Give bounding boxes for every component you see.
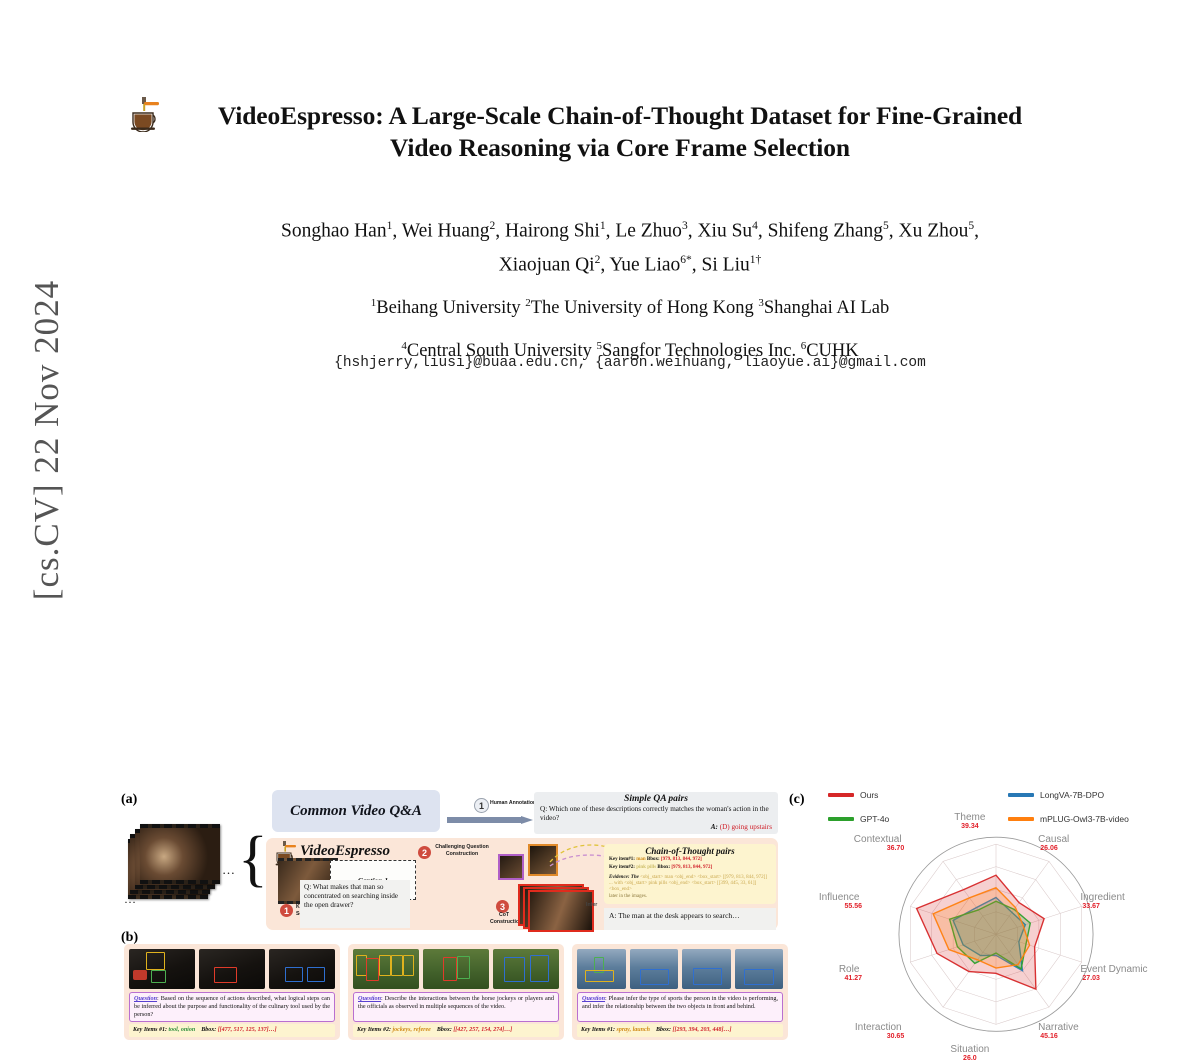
author-line-1: Songhao Han1, Wei Huang2, Hairong Shi1, … — [150, 212, 1110, 246]
key-items-value: jockeys, referee — [393, 1027, 431, 1033]
frame — [577, 949, 626, 989]
cot-key2-bbox: [979, 813, 844, 972] — [671, 865, 712, 870]
frame — [199, 949, 265, 989]
card-1-key-items: Key Items #1: tool, onion Bbox: [[477, 5… — [129, 1024, 335, 1037]
cot-key1-object: man — [636, 857, 645, 862]
bbox-label: Bbox: — [201, 1027, 216, 1033]
radar-label-causal: Causal — [1038, 834, 1069, 845]
video-frames-stack — [128, 824, 220, 890]
legend-label-gpt4o: GPT-4o — [860, 814, 889, 824]
simple-qa-box: Simple QA pairs Q: Which one of these de… — [534, 792, 778, 834]
infer-label: Infer — [586, 902, 597, 909]
cot-evidence-tail: later in the images. — [609, 894, 647, 900]
frames-ellipsis-bottom: … — [124, 892, 136, 907]
radar-value-causal: 26.06 — [1040, 845, 1058, 852]
author-line-2: Xiaojuan Qi2, Yue Liao6*, Si Liu1† — [150, 246, 1110, 280]
simple-qa-question: Q: Which one of these descriptions corre… — [540, 805, 772, 823]
cot-key1-bbox-label: Bbox: — [647, 857, 660, 862]
panel-label-c: (c) — [789, 792, 805, 808]
frame — [129, 949, 195, 989]
card-2-question: Question: Describe the interactions betw… — [353, 992, 559, 1022]
human-annotation-badge: 1 — [474, 798, 489, 813]
question-label: Question — [134, 995, 157, 1002]
example-card-2: Question: Describe the interactions betw… — [348, 944, 564, 1040]
frame — [630, 949, 679, 989]
simple-qa-title: Simple QA pairs — [534, 794, 778, 804]
key-items-label: Key Items #1: — [581, 1027, 615, 1033]
question-text: : Please infer the type of sports the pe… — [582, 995, 778, 1010]
radar-label-contextual: Contextual — [854, 834, 902, 845]
bbox-blue-1 — [285, 967, 303, 982]
radar-plot-area — [800, 832, 1192, 1040]
frame — [269, 949, 335, 989]
bbox-red — [443, 957, 457, 981]
cot-key1-label: Key item#1: — [609, 857, 635, 862]
arrow-to-simple-qa-icon — [447, 816, 533, 824]
evidence-frame-purple — [498, 854, 524, 880]
radar-label-ingredient: Ingredient — [1080, 892, 1124, 903]
radar-legend: Ours LongVA-7B-DPO GPT-4o mPLUG-Owl3-7B-… — [828, 790, 1198, 828]
cot-evidence: Evidence: The <obj_start> man <obj_end> … — [609, 875, 771, 893]
simple-answer-prefix: A: — [711, 823, 718, 831]
card-2-key-items: Key Items #2: jockeys, referee Bbox: [[4… — [353, 1024, 559, 1037]
bbox-blue — [640, 969, 669, 985]
espresso-cup-icon — [128, 96, 162, 132]
step-3-label: CoT Construction — [490, 912, 518, 925]
card-3-key-items: Key Items #1: spray, launch Bbox: [[293,… — [577, 1024, 783, 1037]
legend-label-mplug: mPLUG-Owl3-7B-video — [1040, 814, 1129, 824]
legend-swatch-mplug — [1008, 817, 1034, 821]
affiliation-line-1: 1Beihang University 2The University of H… — [150, 284, 1110, 327]
bbox-blue — [744, 969, 774, 985]
cot-key2-object: pink pills — [636, 865, 656, 870]
legend-swatch-longva — [1008, 793, 1034, 797]
radar-label-interaction: Interaction — [855, 1022, 902, 1033]
title-line-1: VideoEspresso: A Large-Scale Chain-of-Th… — [150, 100, 1090, 132]
teaser-figure: (a) (b) (c) … … { Common Video Q&A 1 Hum… — [0, 392, 1200, 648]
radar-label-narrative: Narrative — [1038, 1022, 1079, 1033]
bbox-label: Bbox: — [437, 1027, 452, 1033]
simple-qa-answer: A: (D) going upstairs — [711, 823, 772, 831]
card-3-question: Question: Please infer the type of sport… — [577, 992, 783, 1022]
bbox-blue-2 — [530, 955, 549, 982]
radar-label-theme: Theme — [954, 812, 985, 823]
legend-item-ours: Ours — [828, 790, 878, 800]
legend-label-ours: Ours — [860, 790, 878, 800]
brace-icon: { — [238, 822, 260, 896]
radar-value-interaction: 30.65 — [887, 1033, 905, 1040]
title-line-2: Video Reasoning via Core Frame Selection — [150, 132, 1090, 164]
step-2-label: Challenging Question Construction — [434, 844, 490, 857]
radar-value-influence: 55.56 — [845, 903, 863, 910]
legend-item-longva: LongVA-7B-DPO — [1008, 790, 1104, 800]
legend-label-longva: LongVA-7B-DPO — [1040, 790, 1104, 800]
radar-value-situation: 26.0 — [963, 1055, 977, 1062]
bbox-blue — [693, 968, 722, 984]
key-items-label: Key Items #2: — [357, 1027, 391, 1033]
radar-value-event-dynamic: 27.03 — [1082, 975, 1100, 982]
bbox-yellow — [146, 952, 165, 970]
author-list: Songhao Han1, Wei Huang2, Hairong Shi1, … — [150, 212, 1110, 279]
radar-value-ingredient: 33.67 — [1082, 903, 1100, 910]
frame — [682, 949, 731, 989]
bbox-value: [[427, 257, 154, 274]…] — [453, 1027, 512, 1033]
bbox-label: Bbox: — [656, 1027, 671, 1033]
radar-value-theme: 39.34 — [961, 823, 979, 830]
common-video-qa-box: Common Video Q&A — [272, 790, 440, 832]
frame — [493, 949, 559, 989]
question-label: Question — [358, 995, 381, 1002]
legend-swatch-ours — [828, 793, 854, 797]
bbox-blue-2 — [307, 967, 325, 982]
legend-item-mplug: mPLUG-Owl3-7B-video — [1008, 814, 1129, 824]
cot-key-item-1: Key item#1: man Bbox: [979, 813, 844, 97… — [609, 857, 702, 863]
card-1-frames — [129, 949, 335, 989]
question-label: Question — [582, 995, 605, 1002]
radar-chart: Theme39.34Causal26.06Ingredient33.67Even… — [800, 832, 1192, 1040]
selected-core-frames — [518, 884, 592, 928]
contact-emails: {hshjerry,liusi}@buaa.edu.cn, {aaron.wei… — [150, 355, 1110, 371]
bbox-value: [[293, 394, 203, 448]…] — [672, 1027, 731, 1033]
key-items-value: spray, launch — [617, 1027, 650, 1033]
paper-page: [cs.CV] 22 Nov 2024 VideoEspresso: A Lar… — [0, 0, 1200, 648]
simple-answer-text: (D) going upstairs — [720, 823, 772, 831]
bbox-yellow-3 — [391, 955, 402, 976]
common-video-qa-label: Common Video Q&A — [290, 802, 422, 820]
key-items-value: tool, onion — [169, 1027, 196, 1033]
bbox-yellow-2 — [379, 955, 390, 976]
radar-label-influence: Influence — [819, 892, 860, 903]
example-card-3: Question: Please infer the type of sport… — [572, 944, 788, 1040]
question-text: : Based on the sequence of actions descr… — [134, 995, 330, 1018]
frame — [735, 949, 784, 989]
bbox-yellow — [585, 970, 614, 982]
question-text: : Describe the interactions between the … — [358, 995, 554, 1010]
step-1-badge: 1 — [280, 904, 293, 917]
cot-key2-label: Key item#2: — [609, 865, 635, 870]
radar-label-event-dynamic: Event Dynamic — [1080, 964, 1147, 975]
challenging-question-box: Q: What makes that man so concentrated o… — [300, 880, 410, 928]
example-card-1: Question: Based on the sequence of actio… — [124, 944, 340, 1040]
card-1-question: Question: Based on the sequence of actio… — [129, 992, 335, 1022]
cot-key1-bbox: [979, 813, 844, 972] — [661, 857, 702, 862]
radar-value-role: 41.27 — [845, 975, 863, 982]
radar-label-situation: Situation — [950, 1044, 989, 1055]
bbox-value: [[477, 517, 125, 137]…] — [218, 1027, 277, 1033]
frames-ellipsis-right: … — [222, 862, 236, 878]
bbox-red — [214, 967, 237, 983]
chain-of-thought-box: Chain-of-Thought pairs Key item#1: man B… — [604, 844, 776, 904]
bbox-blue-1 — [504, 957, 526, 982]
legend-swatch-gpt4o — [828, 817, 854, 821]
radar-value-narrative: 45.16 — [1040, 1033, 1058, 1040]
card-2-frames — [353, 949, 559, 989]
legend-item-gpt4o: GPT-4o — [828, 814, 889, 824]
bbox-red — [366, 958, 379, 981]
bbox-yellow-1 — [356, 955, 367, 976]
cot-title: Chain-of-Thought pairs — [604, 846, 776, 856]
paper-title: VideoEspresso: A Large-Scale Chain-of-Th… — [150, 100, 1090, 164]
radar-label-role: Role — [839, 964, 860, 975]
bbox-yellow-4 — [403, 955, 414, 976]
card-3-frames — [577, 949, 783, 989]
frame — [423, 949, 489, 989]
frame — [353, 949, 419, 989]
cot-key-item-2: Key item#2: pink pills Bbox: [979, 813, … — [609, 865, 712, 871]
radar-value-contextual: 36.70 — [887, 845, 905, 852]
cot-evidence-label: Evidence: The — [609, 875, 639, 880]
bbox-green — [457, 956, 470, 979]
key-items-label: Key Items #1: — [133, 1027, 167, 1033]
panel-label-a: (a) — [121, 792, 137, 808]
bbox-green — [151, 970, 166, 983]
step-2-badge: 2 — [418, 846, 431, 859]
cot-key2-bbox-label: Bbox: — [657, 865, 670, 870]
cot-answer-box: A: The man at the desk appears to search… — [604, 908, 776, 930]
